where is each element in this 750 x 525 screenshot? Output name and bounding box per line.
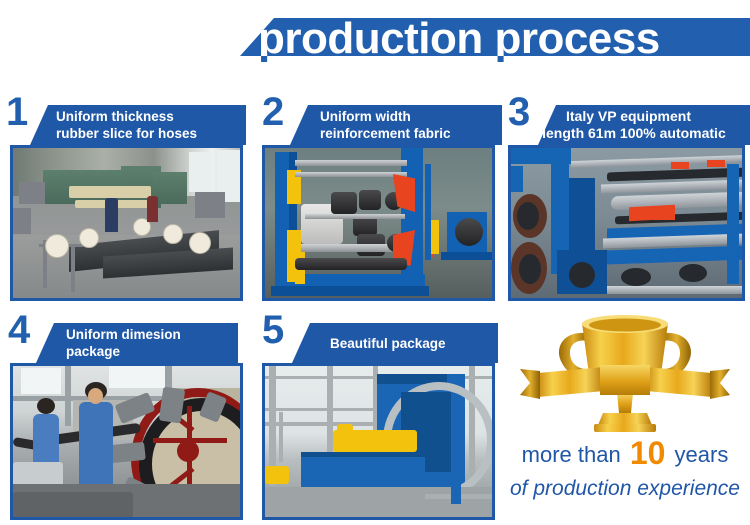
- trophy-icon: [500, 305, 750, 435]
- step-card-4: 4 Uniform dimesion package: [6, 310, 246, 522]
- step-label-line1-1: Uniform thickness: [56, 108, 174, 125]
- step-label-line1-3: Italy VP equipment: [566, 108, 691, 125]
- step-photo-5: [262, 363, 495, 520]
- banner-title-stack: production process production process: [258, 8, 750, 70]
- step-number-2: 2: [262, 92, 296, 132]
- step-card-3: 3 Italy VP equipment Max.length 61m 100%…: [508, 92, 750, 304]
- tagline-suffix: years: [675, 442, 729, 467]
- step-label-line1-5: Beautiful package: [330, 335, 446, 352]
- header-banner: production process production process: [0, 0, 750, 80]
- experience-badge: more than 10 years of production experie…: [500, 305, 750, 525]
- step-card-1: 1 Uniform thickness rubber slice for hos…: [6, 92, 246, 304]
- step-number-4: 4: [8, 310, 42, 350]
- step-photo-1: [10, 145, 243, 301]
- step-label-line1-2: Uniform width: [320, 108, 411, 125]
- tagline-years-number: 10: [627, 435, 669, 471]
- production-process-infographic: production process production process 1 …: [0, 0, 750, 525]
- step-label-line2-2: reinforcement fabric: [320, 125, 451, 142]
- experience-tagline-line1: more than 10 years: [500, 435, 750, 472]
- tagline-prefix: more than: [522, 442, 621, 467]
- step-photo-4: [10, 363, 243, 520]
- step-photo-3: [508, 145, 745, 301]
- step-label-line1-4: Uniform dimesion: [66, 326, 181, 343]
- step-card-5: 5 Beautiful package: [262, 310, 502, 522]
- step-photo-2: [262, 145, 495, 301]
- step-number-1: 1: [6, 92, 40, 132]
- experience-tagline-line2: of production experience: [500, 477, 750, 501]
- step-label-line2-3: Max.length 61m 100% automatic: [511, 125, 726, 142]
- step-number-5: 5: [262, 310, 296, 350]
- step-label-line2-1: rubber slice for hoses: [56, 125, 197, 142]
- step-card-2: 2 Uniform width reinforcement fabric: [262, 92, 502, 304]
- step-label-line2-4: package: [66, 343, 120, 360]
